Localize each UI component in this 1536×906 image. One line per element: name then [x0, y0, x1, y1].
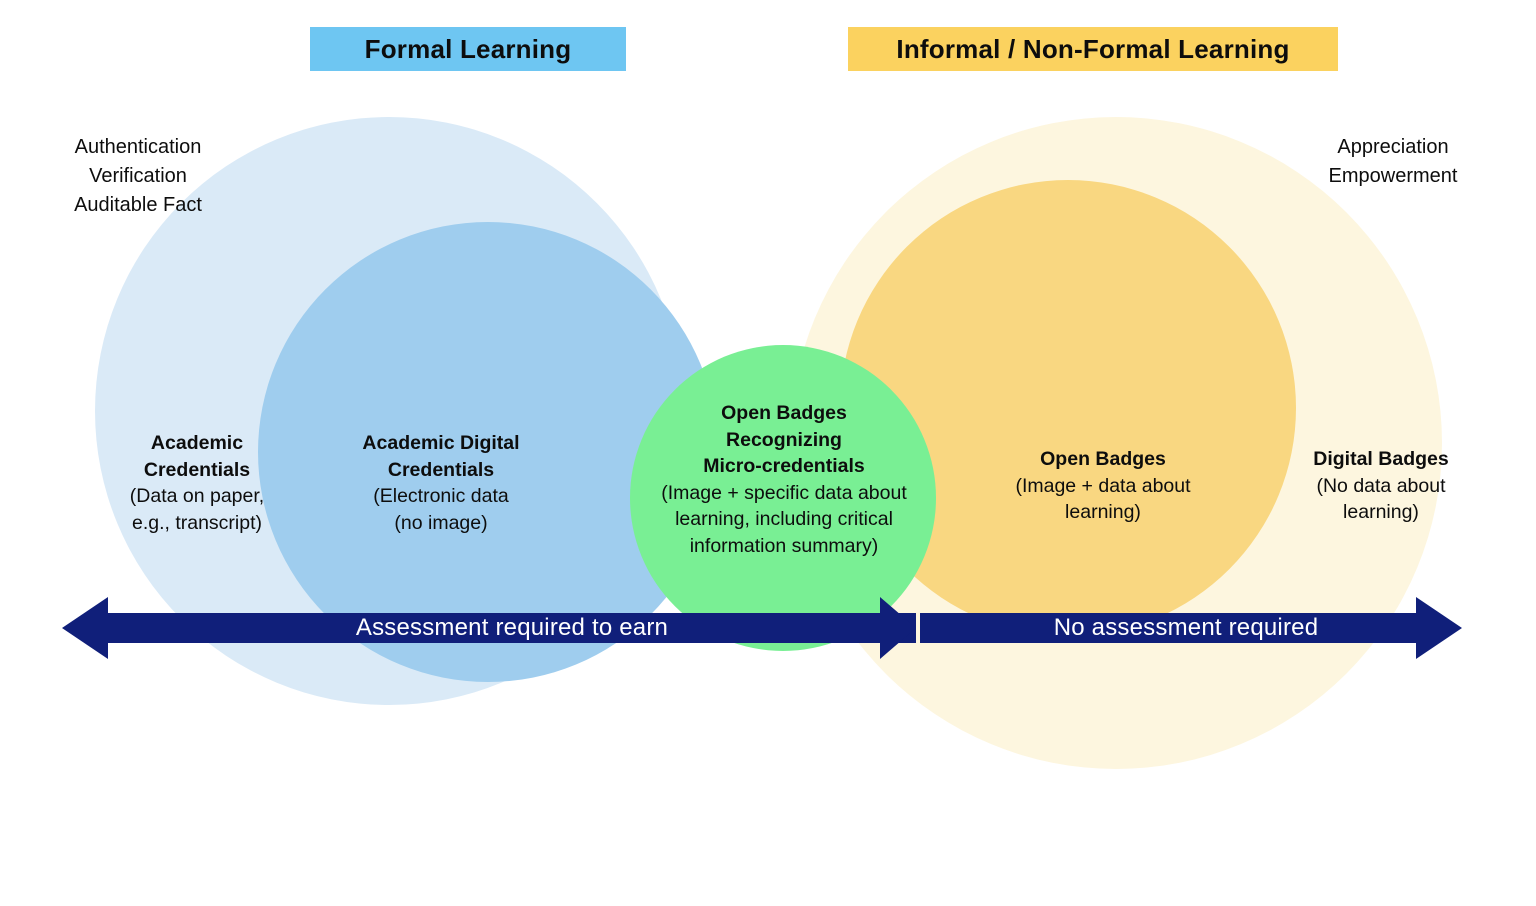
- label-academic-credentials-subtitle: (Data on paper, e.g., transcript): [100, 483, 294, 536]
- caption-informal-attributes: Appreciation Empowerment: [1300, 133, 1486, 191]
- label-open-badges-micro-title: Open Badges Recognizing Micro-credential…: [600, 400, 968, 480]
- label-open-badges-micro-subtitle: (Image + specific data about learning, i…: [600, 480, 968, 560]
- venn-diagram-canvas: Formal Learning Informal / Non-Formal Le…: [0, 0, 1536, 906]
- header-chip-formal-label: Formal Learning: [365, 34, 572, 65]
- label-open-badges-title: Open Badges: [988, 446, 1218, 473]
- header-chip-formal-learning: Formal Learning: [310, 27, 626, 71]
- label-academic-credentials: Academic Credentials (Data on paper, e.g…: [100, 430, 294, 536]
- label-academic-digital-credentials: Academic Digital Credentials (Electronic…: [330, 430, 552, 536]
- arrow-junction-wedge: [880, 597, 936, 659]
- label-academic-credentials-title: Academic Credentials: [100, 430, 294, 483]
- arrow-assessment-required-label: Assessment required to earn: [62, 597, 916, 659]
- label-academic-digital-credentials-subtitle: (Electronic data (no image): [330, 483, 552, 536]
- arrow-assessment-required: Assessment required to earn: [62, 597, 916, 659]
- arrow-no-assessment-required-label: No assessment required: [920, 597, 1462, 659]
- caption-formal-attributes: Authentication Verification Auditable Fa…: [38, 133, 238, 220]
- arrow-no-assessment-required: No assessment required: [920, 597, 1462, 659]
- label-academic-digital-credentials-title: Academic Digital Credentials: [330, 430, 552, 483]
- label-open-badges: Open Badges (Image + data about learning…: [988, 446, 1218, 526]
- header-chip-informal-label: Informal / Non-Formal Learning: [896, 34, 1289, 65]
- label-open-badges-recognizing-micro-credentials: Open Badges Recognizing Micro-credential…: [600, 400, 968, 559]
- label-digital-badges: Digital Badges (No data about learning): [1283, 446, 1479, 526]
- label-open-badges-subtitle: (Image + data about learning): [988, 473, 1218, 526]
- label-digital-badges-title: Digital Badges: [1283, 446, 1479, 473]
- header-chip-informal-learning: Informal / Non-Formal Learning: [848, 27, 1338, 71]
- label-digital-badges-subtitle: (No data about learning): [1283, 473, 1479, 526]
